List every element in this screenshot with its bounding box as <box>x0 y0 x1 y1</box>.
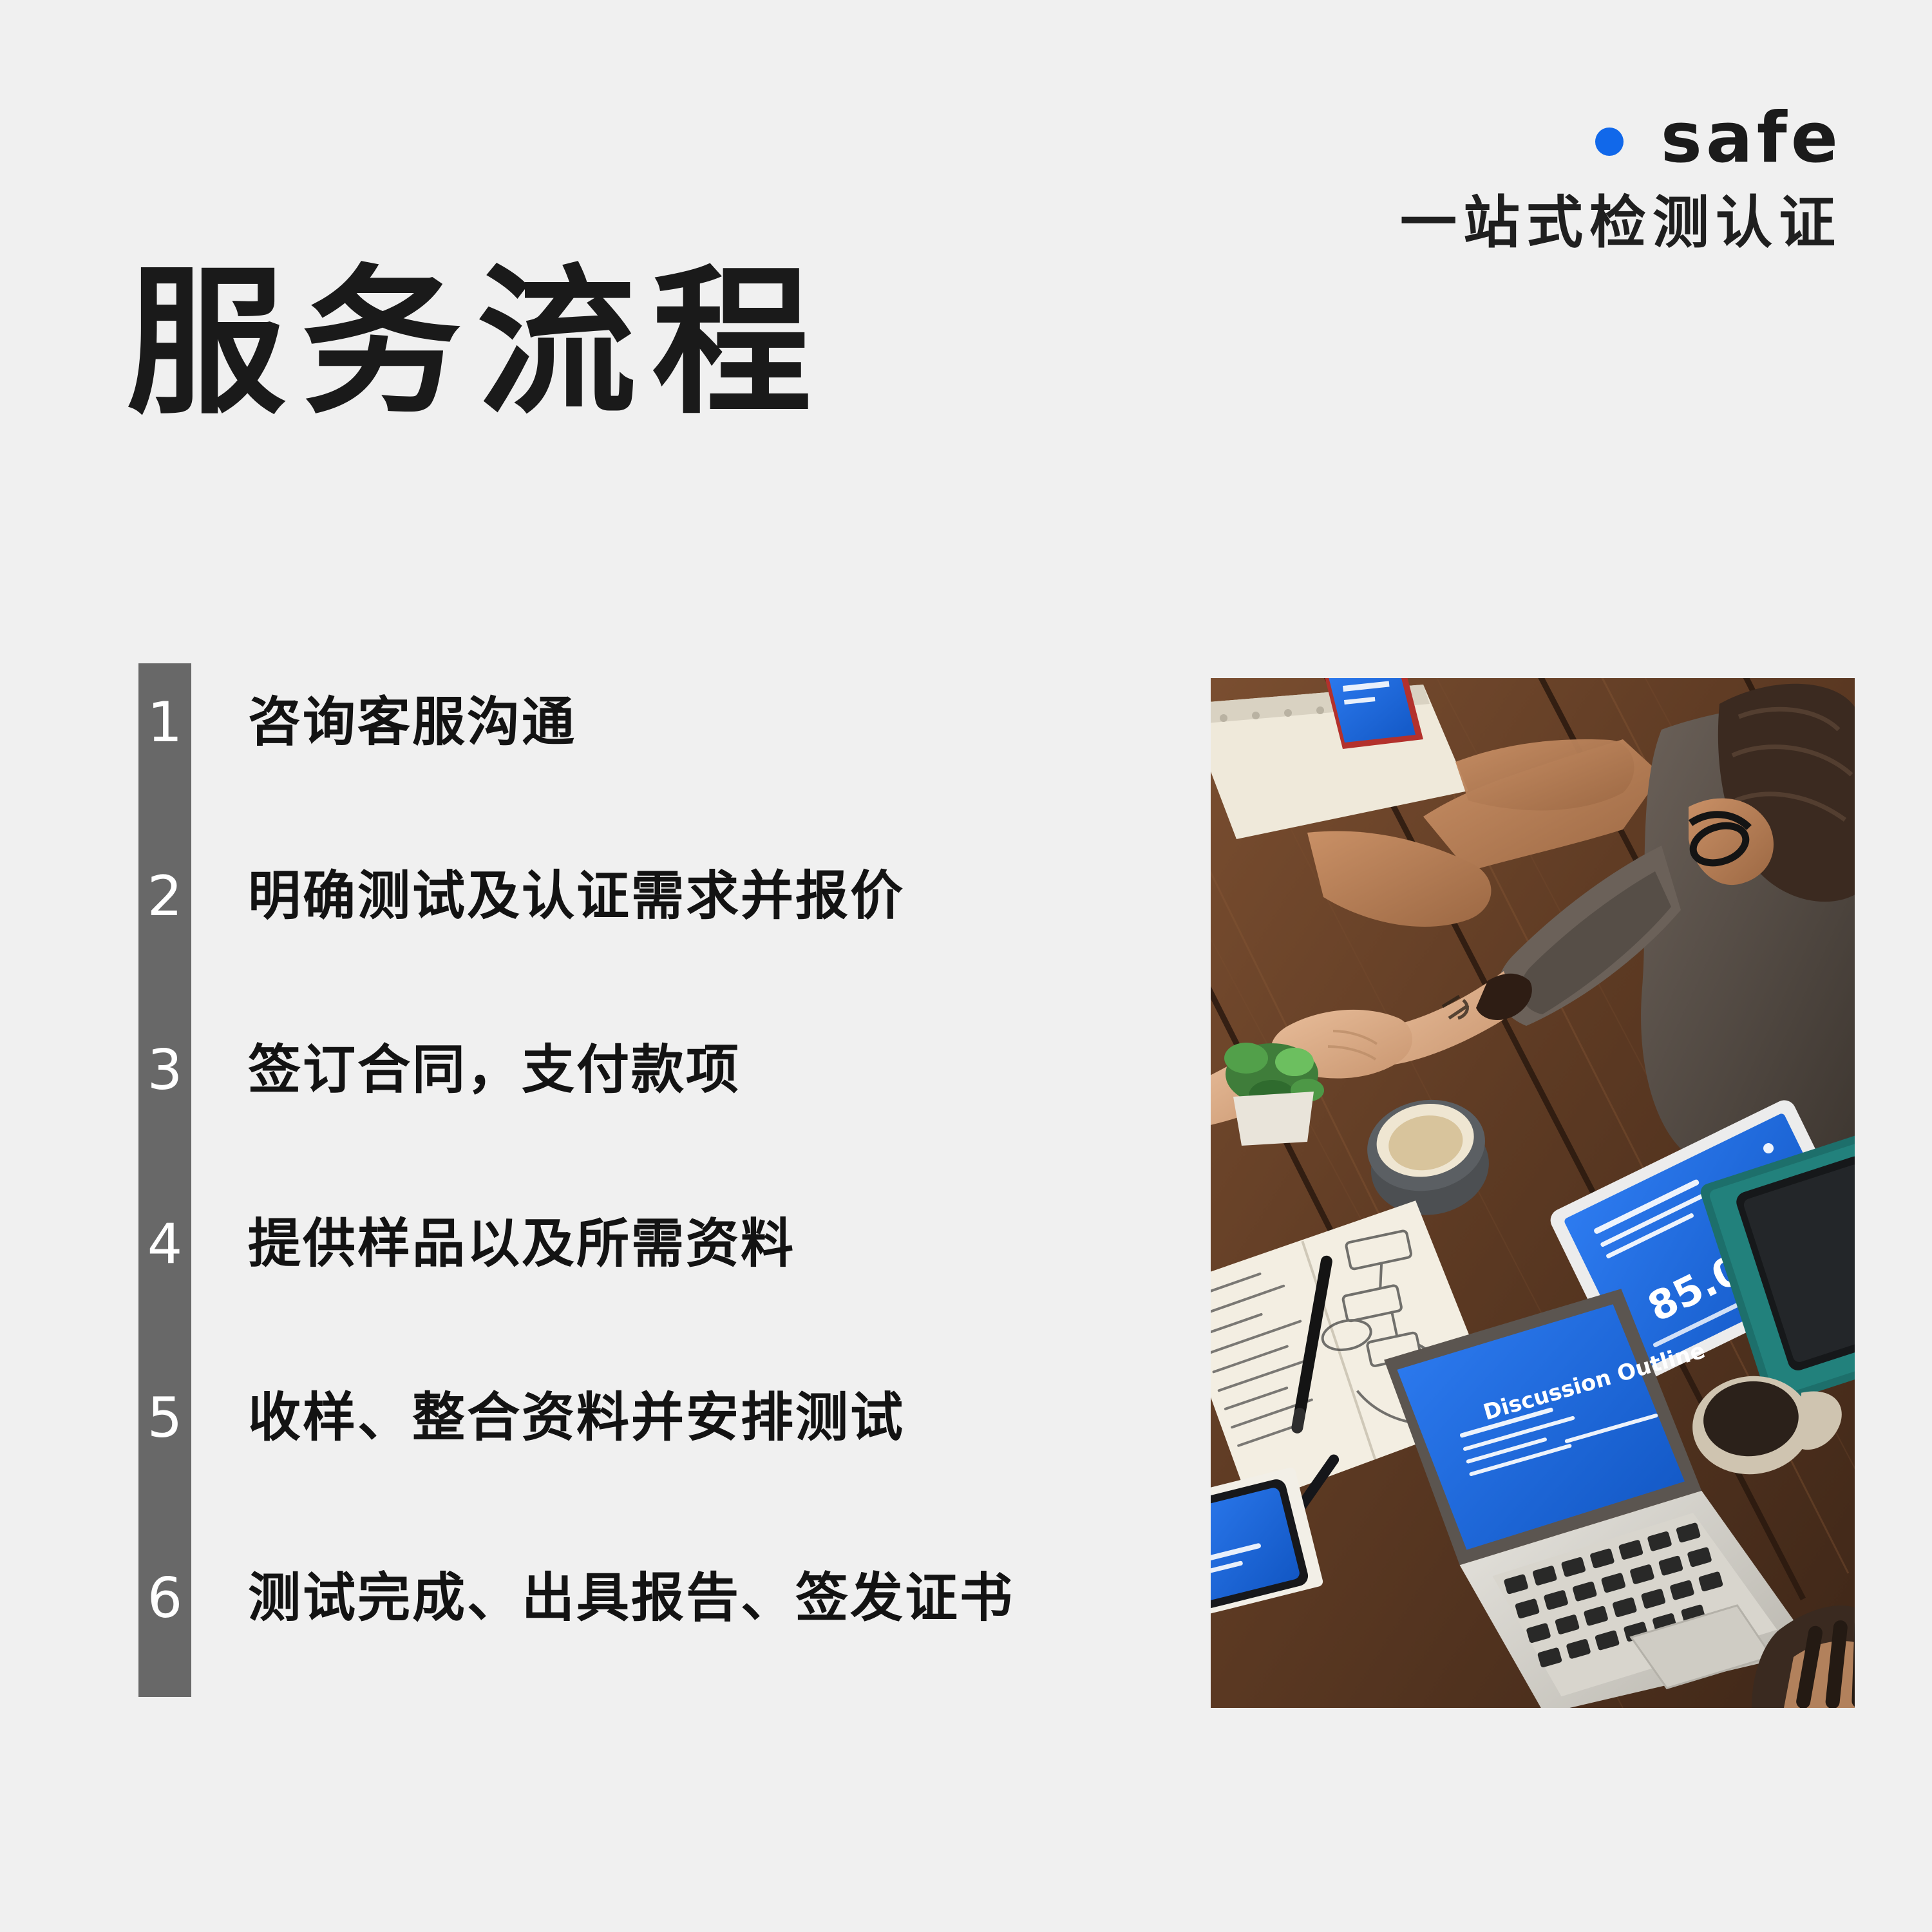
step-label: 明确测试及认证需求并报价 <box>248 870 905 923</box>
step-number-bar <box>138 663 191 1697</box>
step-number: 1 <box>138 695 191 750</box>
brand-tagline: 一站式检测认证 <box>1352 194 1842 251</box>
brand-wordmark: safe <box>1661 104 1842 173</box>
step-number: 5 <box>138 1390 191 1446</box>
step-label: 签订合同，支付款项 <box>248 1044 741 1097</box>
service-process-list: 1 咨询客服沟通 2 明确测试及认证需求并报价 3 签订合同，支付款项 4 提供… <box>138 663 1169 1697</box>
list-item: 6 测试完成、出具报告、签发证书 <box>138 1547 1169 1650</box>
step-number: 4 <box>138 1217 191 1272</box>
brand-block: safe 一站式检测认证 <box>1352 97 1842 251</box>
list-item: 3 签订合同，支付款项 <box>138 1019 1169 1122</box>
blue-dot-icon <box>1595 128 1624 156</box>
step-number: 3 <box>138 1043 191 1098</box>
meeting-photo: 85.00% <box>1211 678 1855 1708</box>
step-label: 测试完成、出具报告、签发证书 <box>248 1572 1014 1625</box>
list-item: 4 提供样品以及所需资料 <box>138 1193 1169 1296</box>
list-item: 5 收样、整合资料并安排测试 <box>138 1367 1169 1470</box>
list-item: 2 明确测试及认证需求并报价 <box>138 845 1169 948</box>
step-label: 咨询客服沟通 <box>248 696 576 749</box>
step-label: 提供样品以及所需资料 <box>248 1218 795 1271</box>
page-title: 服务流程 <box>126 263 827 422</box>
list-item: 1 咨询客服沟通 <box>138 671 1169 774</box>
step-number: 6 <box>138 1571 191 1626</box>
meeting-photo-illustration: 85.00% <box>1211 678 1855 1708</box>
brand-logo-row: safe <box>1352 97 1842 180</box>
step-number: 2 <box>138 869 191 924</box>
step-label: 收样、整合资料并安排测试 <box>248 1392 905 1444</box>
poster-canvas: safe 一站式检测认证 服务流程 1 咨询客服沟通 2 明确测试及认证需求并报… <box>0 0 1932 1932</box>
